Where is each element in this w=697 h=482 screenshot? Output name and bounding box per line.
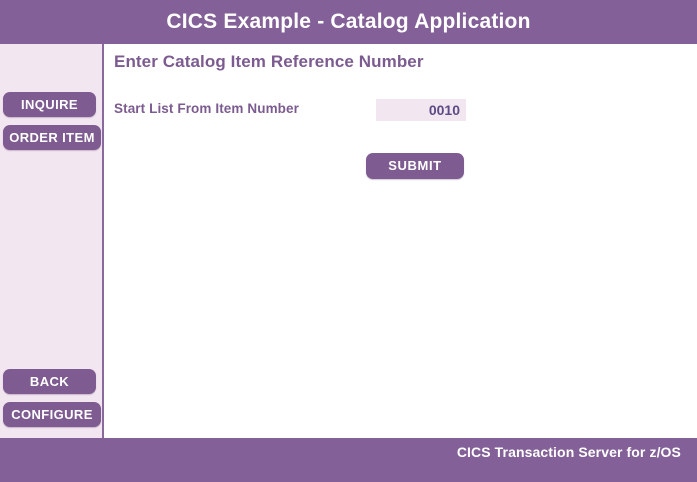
footer-product-name: CICS Transaction Server for z/OS	[457, 438, 697, 460]
sidebar-item-back[interactable]: BACK	[3, 369, 96, 394]
sidebar-item-inquire[interactable]: INQUIRE	[3, 92, 96, 117]
submit-button[interactable]: SUBMIT	[366, 153, 464, 179]
body-region: INQUIRE ORDER ITEM BACK CONFIGURE Enter …	[0, 44, 697, 438]
item-number-form-row: Start List From Item Number	[114, 99, 574, 123]
sidebar-bottom-actions: BACK CONFIGURE	[0, 369, 104, 427]
app-footer: CICS Transaction Server for z/OS	[0, 438, 697, 482]
start-item-number-input[interactable]	[376, 99, 466, 121]
sidebar-item-configure[interactable]: CONFIGURE	[3, 402, 101, 427]
app-header: CICS Example - Catalog Application	[0, 0, 697, 44]
sidebar-item-order-item[interactable]: ORDER ITEM	[3, 125, 101, 150]
submit-area: SUBMIT	[366, 153, 464, 179]
app-title: CICS Example - Catalog Application	[166, 10, 530, 34]
sidebar-top-actions: INQUIRE ORDER ITEM	[0, 92, 104, 158]
item-number-label: Start List From Item Number	[114, 101, 299, 116]
sidebar: INQUIRE ORDER ITEM BACK CONFIGURE	[0, 44, 104, 438]
main-content: Enter Catalog Item Reference Number Star…	[106, 44, 697, 438]
application-window: CICS Example - Catalog Application INQUI…	[0, 0, 697, 482]
page-title: Enter Catalog Item Reference Number	[114, 52, 424, 72]
